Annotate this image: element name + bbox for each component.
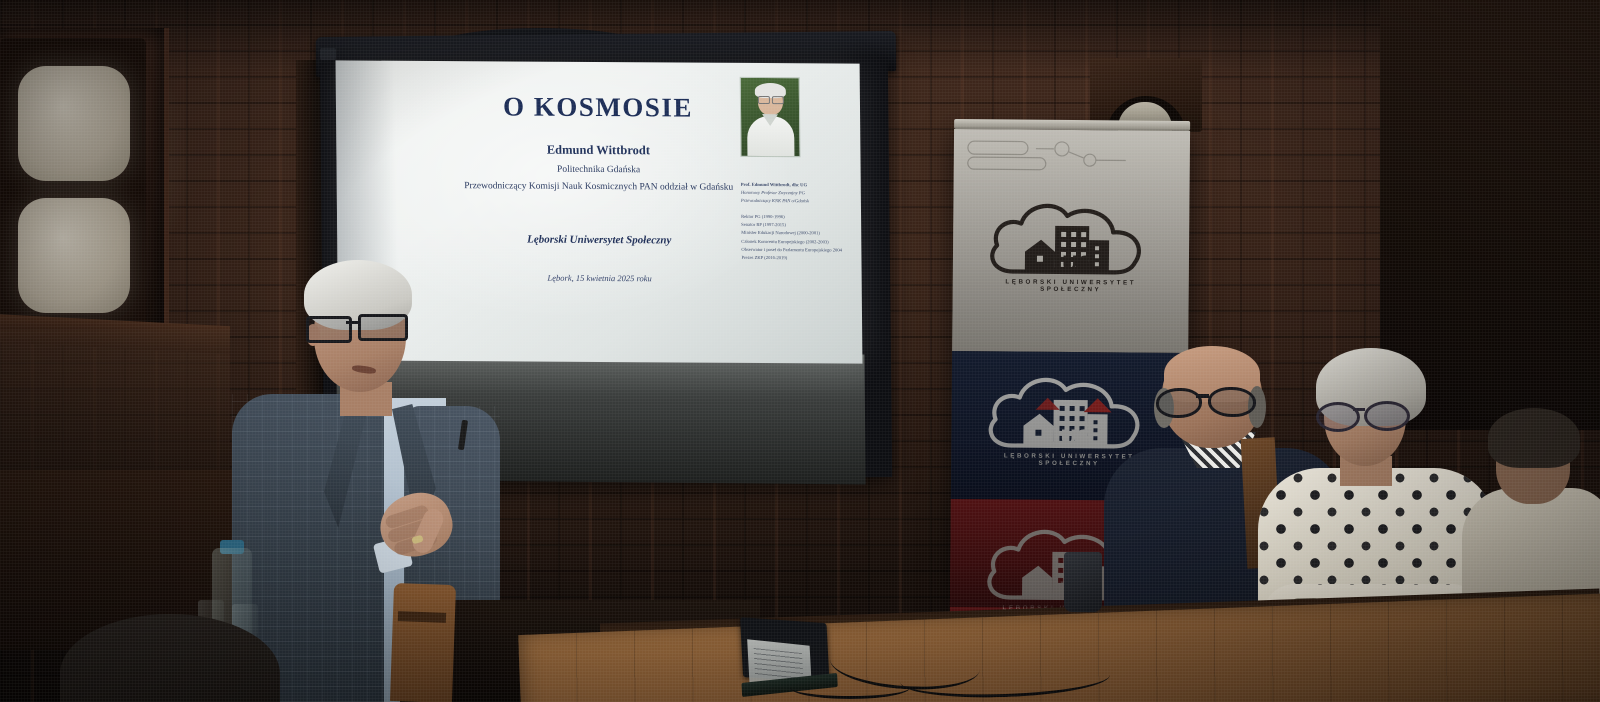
wall-lamps bbox=[0, 28, 169, 338]
foreground-head bbox=[60, 614, 280, 702]
travel-mug bbox=[1064, 552, 1102, 612]
woman-glasses bbox=[1316, 402, 1408, 426]
slide-portrait-photo bbox=[740, 77, 801, 157]
wall-lamp-lower bbox=[18, 198, 130, 313]
bio-header-line-3: Przewodniczący KNK PAN o/Gdańsk bbox=[741, 197, 859, 206]
photo-scene: O KOSMOSIE Edmund Wittbrodt Politechnika… bbox=[0, 0, 1600, 702]
glasses-lens-right bbox=[1364, 401, 1410, 431]
far-right-hair bbox=[1488, 408, 1580, 468]
slide-bio-list: Rektor PG (1990-1996) Senator RP (1997-2… bbox=[741, 213, 862, 263]
foreground-hair bbox=[60, 614, 280, 702]
wall-lamp-upper bbox=[18, 66, 130, 181]
lamp-frame bbox=[0, 38, 146, 330]
cable bbox=[790, 676, 910, 699]
portrait-glasses-left bbox=[758, 96, 770, 104]
glasses-bridge bbox=[1196, 394, 1209, 398]
speaker-glasses bbox=[306, 316, 410, 338]
laptop-screen-content bbox=[754, 648, 804, 681]
bio-line: Prezes ZKP (2016-2019) bbox=[741, 254, 862, 263]
chair-slat bbox=[398, 611, 446, 623]
screen-roller-end bbox=[320, 48, 336, 60]
glasses-lens-left bbox=[1156, 388, 1202, 418]
glasses-bridge bbox=[346, 321, 360, 324]
slide-bio-header: Prof. Edmund Wittbrodt, dhc UG Honorowy … bbox=[741, 181, 859, 206]
wooden-chair-left bbox=[390, 583, 456, 702]
portrait-glasses-right bbox=[772, 96, 784, 104]
slide-affiliation: Politechnika Gdańska bbox=[337, 163, 861, 176]
glasses-lens-left bbox=[1316, 402, 1360, 432]
glasses-bridge bbox=[1353, 408, 1365, 411]
bio-line: Minister Edukacji Narodowej (2000-2001) bbox=[741, 229, 862, 238]
seated-man-glasses bbox=[1156, 388, 1256, 412]
glasses-lens-right bbox=[1208, 387, 1256, 417]
glasses-lens-right bbox=[358, 314, 408, 341]
